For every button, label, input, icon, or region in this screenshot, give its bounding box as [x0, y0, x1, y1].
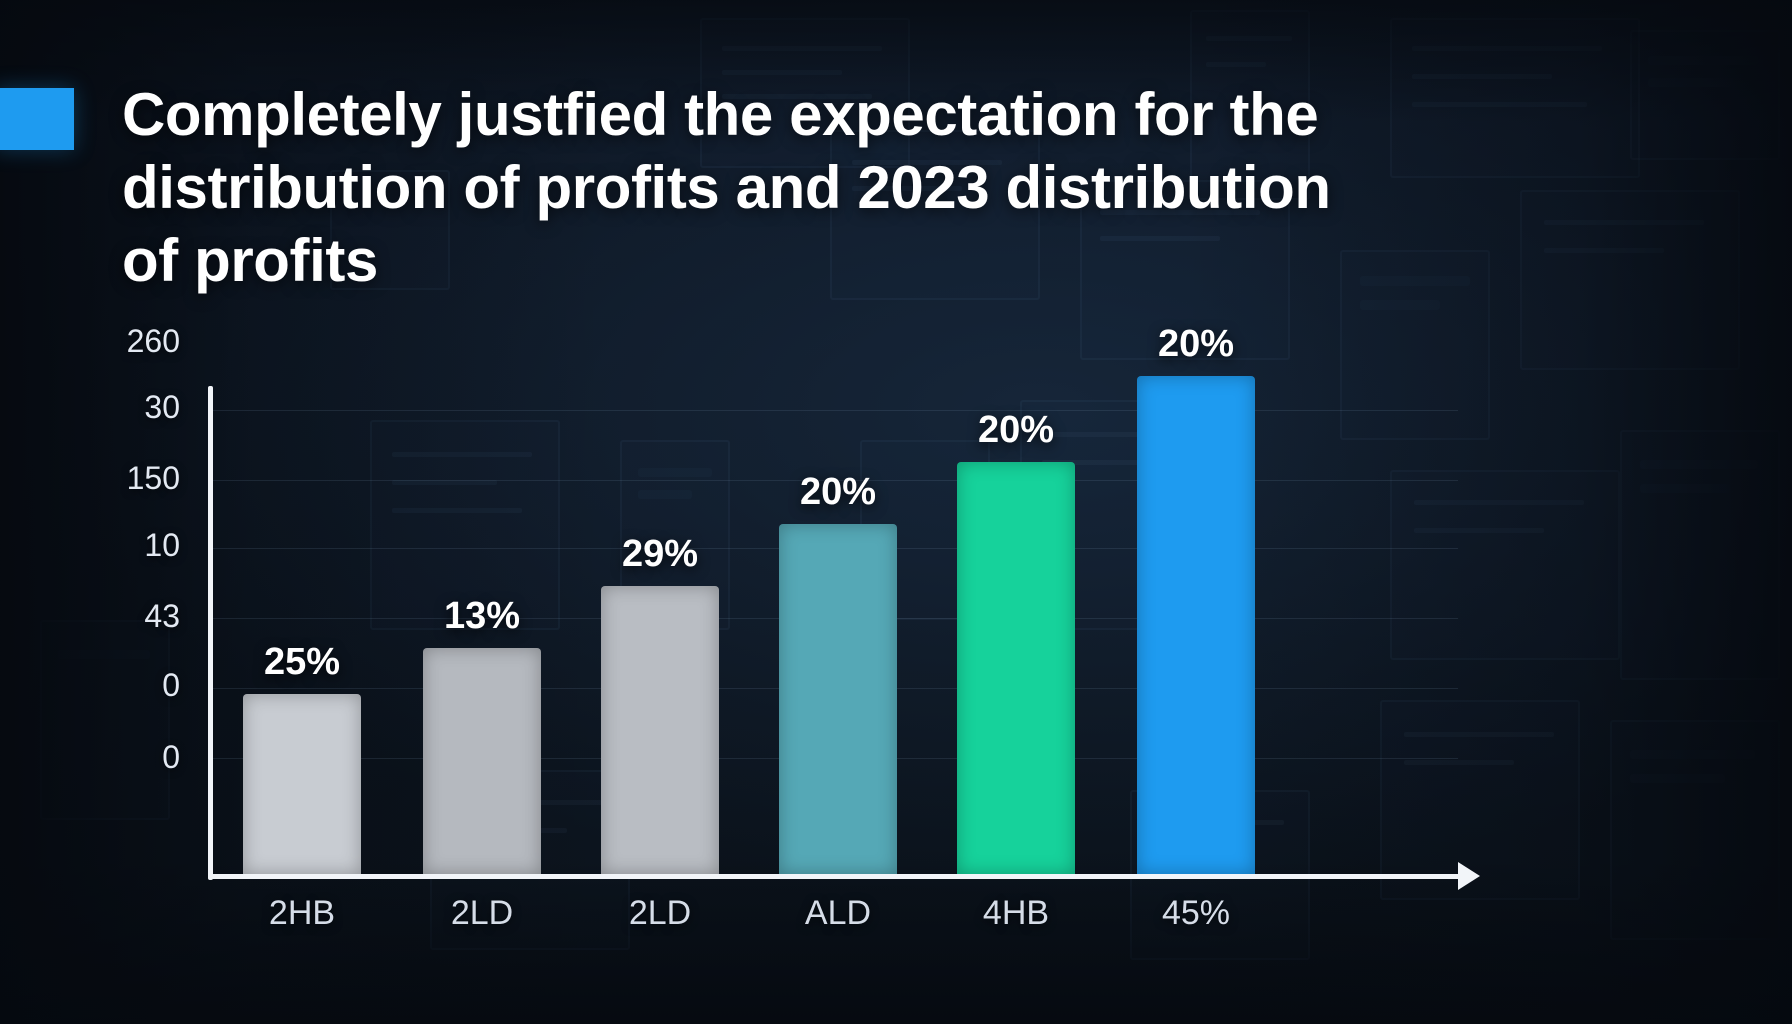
y-tick-label: 260 [127, 323, 180, 360]
bar-group[interactable]: 25% 2HB [243, 386, 361, 874]
bar-group[interactable]: 20% 45% [1137, 386, 1255, 874]
bar-value-label: 29% [622, 533, 698, 576]
bar[interactable] [601, 586, 719, 874]
y-tick-label: 150 [127, 460, 180, 497]
bar-value-label: 20% [1158, 323, 1234, 366]
bar-value-label: 20% [978, 409, 1054, 452]
plot-area: 25% 2HB 13% 2LD 29% 2LD 20% ALD 20% [213, 386, 1458, 874]
bar[interactable] [779, 524, 897, 874]
bar[interactable] [423, 648, 541, 874]
y-tick-label: 0 [162, 667, 180, 704]
bar-category-label: 2LD [629, 894, 691, 933]
bar-category-label: 45% [1162, 894, 1230, 933]
bar-value-label: 20% [800, 471, 876, 514]
bar-category-label: 4HB [983, 894, 1049, 933]
y-tick-label: 10 [144, 527, 180, 564]
bar-group[interactable]: 13% 2LD [423, 386, 541, 874]
x-axis-line [208, 874, 1466, 879]
y-tick-label: 30 [144, 389, 180, 426]
y-tick-label: 0 [162, 739, 180, 776]
x-axis-arrow-icon [1458, 862, 1480, 890]
bar-value-label: 25% [264, 641, 340, 684]
bar-category-label: 2LD [451, 894, 513, 933]
bar-category-label: 2HB [269, 894, 335, 933]
bar-group[interactable]: 20% ALD [779, 386, 897, 874]
bar[interactable] [1137, 376, 1255, 874]
bar[interactable] [243, 694, 361, 874]
slide-canvas: Completely justfied the expectation for … [0, 0, 1792, 1024]
bar-group[interactable]: 29% 2LD [601, 386, 719, 874]
bar-group[interactable]: 20% 4HB [957, 386, 1075, 874]
bar-category-label: ALD [805, 894, 871, 933]
bar-chart: 260 30 150 10 43 0 0 25% 2HB 13% 2L [0, 0, 1792, 1024]
y-tick-label: 43 [144, 598, 180, 635]
bar[interactable] [957, 462, 1075, 874]
bar-value-label: 13% [444, 595, 520, 638]
